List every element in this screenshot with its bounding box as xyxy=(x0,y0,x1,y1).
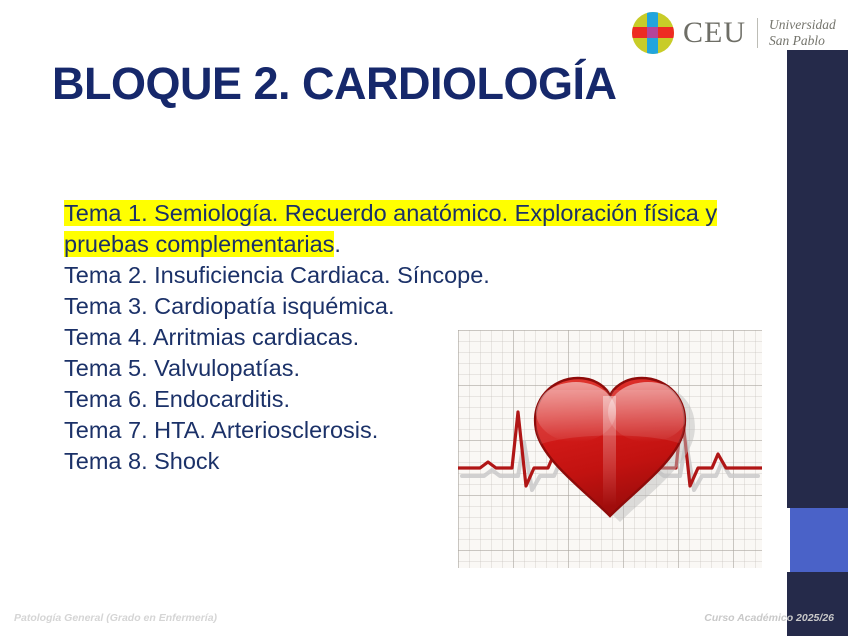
logo-subtitle: Universidad San Pablo xyxy=(769,17,836,49)
logo-center-square xyxy=(647,27,658,38)
heart-ecg-vector xyxy=(458,330,762,568)
topic-text: Tema 5. Valvulopatías. xyxy=(64,355,300,381)
logo-subtitle-line2: San Pablo xyxy=(769,33,836,49)
sidebar-navy-top xyxy=(787,50,848,508)
slide-title: BLOQUE 2. CARDIOLOGÍA xyxy=(52,58,617,110)
topic-text: Tema 4. Arritmias cardiacas. xyxy=(64,324,359,350)
list-item: Tema 1. Semiología. Recuerdo anatómico. … xyxy=(64,198,764,229)
logo-subtitle-line1: Universidad xyxy=(769,17,836,33)
heart-ecg-illustration xyxy=(458,330,762,568)
topic-text: pruebas complementarias xyxy=(64,231,334,257)
topic-text: Tema 2. Insuficiencia Cardiaca. Síncope. xyxy=(64,262,490,288)
list-item: Tema 2. Insuficiencia Cardiaca. Síncope. xyxy=(64,260,764,291)
ceu-circle-mark-icon xyxy=(632,12,674,54)
topic-text: Tema 1. Semiología. Recuerdo anatómico. … xyxy=(64,200,717,226)
topic-text: Tema 8. Shock xyxy=(64,448,219,474)
logo-divider xyxy=(757,18,758,48)
footer-right-text: Curso Académico 2025/26 xyxy=(704,612,834,624)
topic-trail: . xyxy=(334,231,341,257)
slide-canvas: CEU Universidad San Pablo BLOQUE 2. CARD… xyxy=(0,0,848,636)
list-item: Tema 3. Cardiopatía isquémica. xyxy=(64,291,764,322)
sidebar-navy-bottom xyxy=(787,572,848,636)
topic-text: Tema 6. Endocarditis. xyxy=(64,386,290,412)
logo-acronym: CEU xyxy=(683,18,746,48)
ceu-logo: CEU Universidad San Pablo xyxy=(632,10,836,56)
list-item: pruebas complementarias. xyxy=(64,229,764,260)
footer-left-text: Patología General (Grado en Enfermería) xyxy=(14,612,217,624)
topic-text: Tema 3. Cardiopatía isquémica. xyxy=(64,293,394,319)
topic-text: Tema 7. HTA. Arteriosclerosis. xyxy=(64,417,378,443)
sidebar-accent-blue xyxy=(790,508,848,572)
